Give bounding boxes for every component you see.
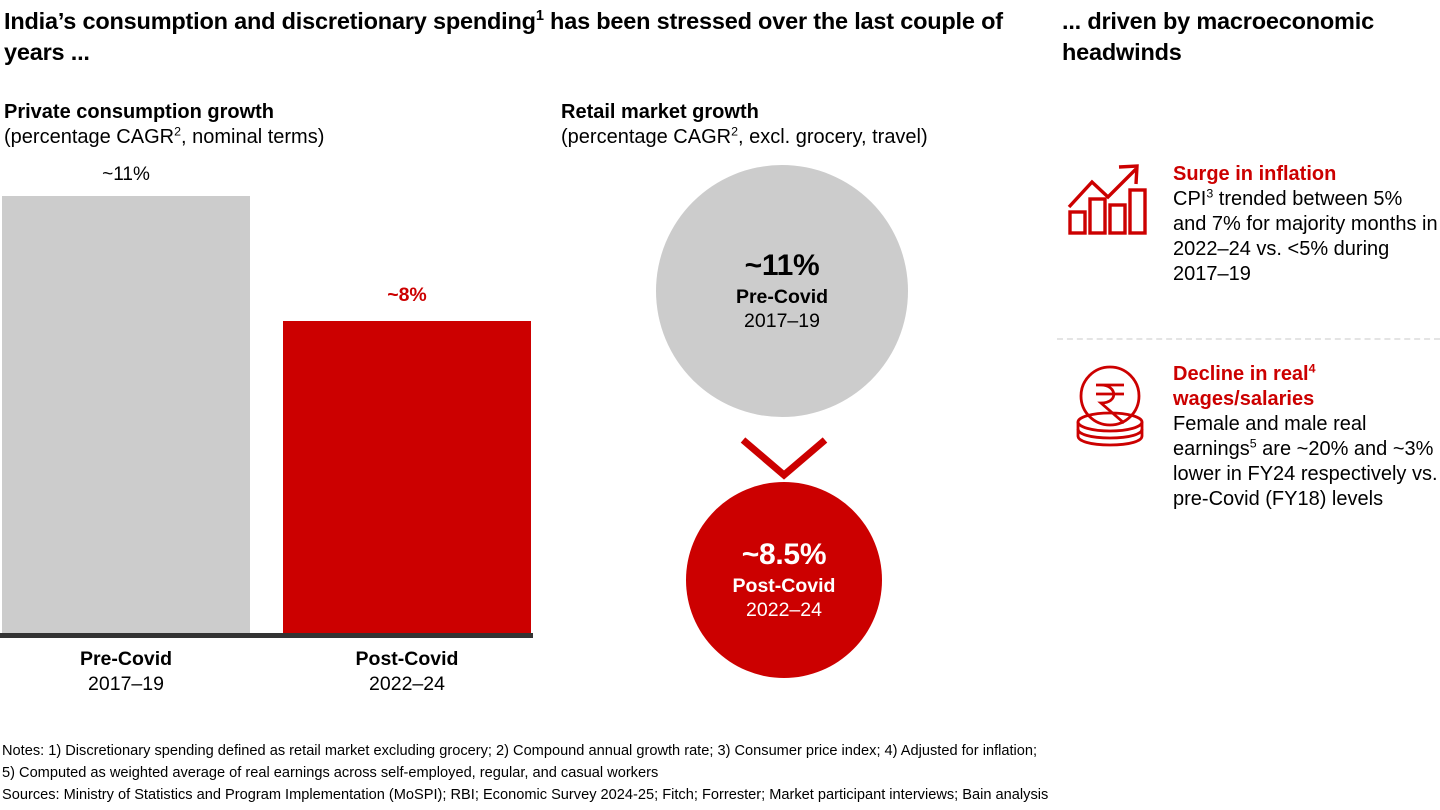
insight-divider <box>1057 338 1440 340</box>
bar-chart-title: Private consumption growth <box>4 100 274 125</box>
insight-heading-inflation: Surge in inflation <box>1173 162 1439 187</box>
bubble-post-covid: ~8.5% Post-Covid 2022–24 <box>686 482 882 678</box>
insight-body-inflation-part1: CPI <box>1173 188 1206 210</box>
bar-category-years-pre-covid: 2017–19 <box>2 672 250 697</box>
insight-body-inflation: CPI3 trended between 5% and 7% for major… <box>1173 187 1439 287</box>
footnote-line-2: 5) Computed as weighted average of real … <box>2 762 1440 784</box>
rupee-coin-stack-icon <box>1070 362 1150 448</box>
footnote-line-1: Notes: 1) Discretionary spending defined… <box>2 740 1440 762</box>
footnote-marker-4: 4 <box>1309 361 1316 375</box>
bubble-period-pre-covid: Pre-Covid <box>736 285 828 309</box>
page-title-right: ... driven by macroeconomic headwinds <box>1062 6 1440 68</box>
bubble-subtitle-part1: (percentage CAGR <box>561 126 731 148</box>
bar-category-pre-covid: Pre-Covid 2017–19 <box>2 647 250 697</box>
bubble-period-post-covid: Post-Covid <box>733 574 836 598</box>
bubble-value-pre-covid: ~11% <box>745 249 820 283</box>
bubble-chart-title: Retail market growth <box>561 100 759 125</box>
insight-heading-wages-part2: wages/salaries <box>1173 388 1314 410</box>
bubble-years-post-covid: 2022–24 <box>746 598 822 622</box>
bar-value-label-pre-covid: ~11% <box>2 164 250 186</box>
insight-body-inflation-part2: trended between 5% and 7% for majority m… <box>1173 188 1438 285</box>
insight-heading-wages-part1: Decline in real <box>1173 363 1309 385</box>
bubble-pre-covid: ~11% Pre-Covid 2017–19 <box>656 165 908 417</box>
bar-category-name-pre-covid: Pre-Covid <box>2 647 250 672</box>
footnote-marker-5: 5 <box>1250 436 1257 450</box>
bar-category-name-post-covid: Post-Covid <box>283 647 531 672</box>
bubble-chart-subtitle: (percentage CAGR2, excl. grocery, travel… <box>561 125 928 150</box>
bar-subtitle-part1: (percentage CAGR <box>4 126 174 148</box>
footnote-marker-2a: 2 <box>174 124 181 138</box>
bar-pre-covid <box>2 196 250 633</box>
bar-category-years-post-covid: 2022–24 <box>283 672 531 697</box>
bubble-years-pre-covid: 2017–19 <box>744 309 820 333</box>
insight-body-wages: Female and male real earnings5 are ~20% … <box>1173 412 1439 512</box>
bubble-subtitle-part2: , excl. grocery, travel) <box>738 126 928 148</box>
footnote-line-3: Sources: Ministry of Statistics and Prog… <box>2 784 1440 806</box>
bar-chart-subtitle: (percentage CAGR2, nominal terms) <box>4 125 324 150</box>
headline-left-part1: India’s consumption and discretionary sp… <box>4 8 536 34</box>
bar-chart-uptrend-icon <box>1066 162 1150 236</box>
footnote-marker-1: 1 <box>536 8 544 24</box>
bar-chart-axis-line <box>0 633 533 638</box>
bar-category-post-covid: Post-Covid 2022–24 <box>283 647 531 697</box>
footnote-marker-2b: 2 <box>731 124 738 138</box>
footnotes-block: Notes: 1) Discretionary spending defined… <box>2 740 1440 806</box>
insight-text-inflation: Surge in inflation CPI3 trended between … <box>1173 162 1439 287</box>
insight-heading-wages: Decline in real4 wages/salaries <box>1173 362 1439 412</box>
bar-subtitle-part2: , nominal terms) <box>181 126 324 148</box>
bar-value-label-post-covid: ~8% <box>283 284 531 306</box>
insight-text-wages: Decline in real4 wages/salaries Female a… <box>1173 362 1439 512</box>
page-title-left: India’s consumption and discretionary sp… <box>4 6 1009 68</box>
bubble-value-post-covid: ~8.5% <box>742 538 826 572</box>
bar-post-covid <box>283 321 531 633</box>
down-chevron-arrow-icon <box>738 434 830 482</box>
